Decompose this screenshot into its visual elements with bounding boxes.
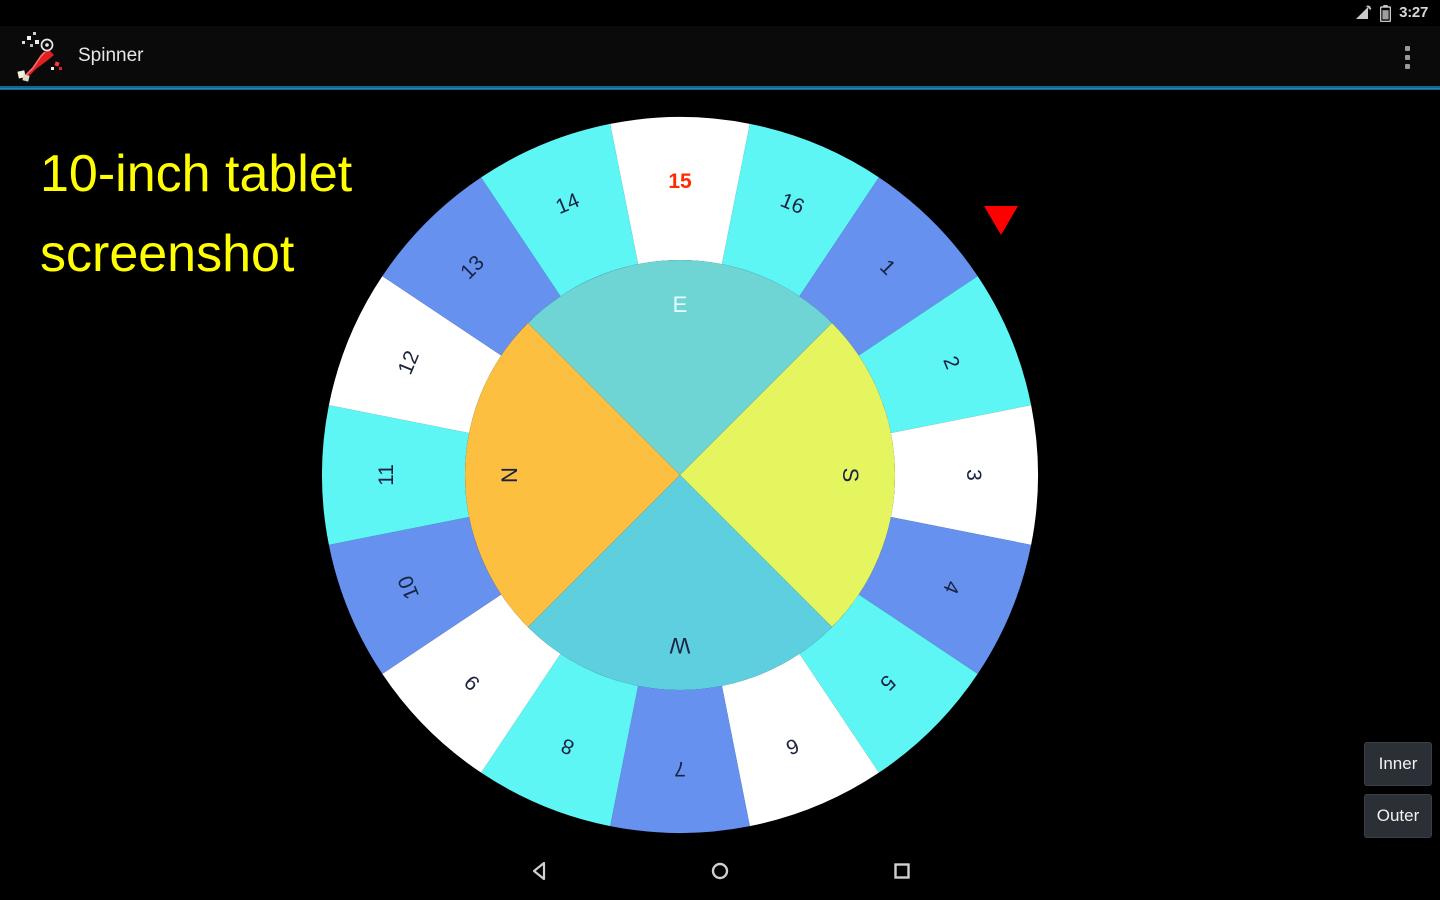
action-bar: Spinner (0, 26, 1440, 86)
back-icon[interactable] (495, 842, 585, 900)
overflow-dot-3 (1405, 64, 1410, 69)
inner-segment-label: N (497, 467, 522, 483)
side-button-group: Inner Outer (1364, 742, 1432, 838)
spinner-svg[interactable]: 15161234567891011121314 ESWN (320, 115, 1040, 835)
battery-icon (1380, 5, 1391, 22)
inner-segment-label: W (669, 633, 690, 658)
status-bar-right: 3:27 (1354, 0, 1428, 26)
outer-segment-label: 7 (674, 757, 686, 780)
inner-segment-label: S (838, 468, 863, 483)
action-bar-divider (0, 86, 1440, 90)
app-screen: 3:27 (0, 0, 1440, 900)
red-pointer-triangle (984, 206, 1018, 235)
status-bar-clock: 3:27 (1399, 0, 1428, 26)
outer-segment-label: 11 (375, 464, 398, 486)
outer-button[interactable]: Outer (1364, 794, 1432, 838)
overflow-dot-2 (1405, 55, 1410, 60)
home-icon[interactable] (675, 842, 765, 900)
navigation-bar (0, 842, 1440, 900)
overflow-dot-1 (1405, 46, 1410, 51)
inner-button[interactable]: Inner (1364, 742, 1432, 786)
overflow-menu-icon[interactable] (1390, 40, 1424, 74)
outer-segment-label: 15 (668, 170, 692, 193)
spinner-wheel[interactable]: 15161234567891011121314 ESWN (320, 115, 1040, 835)
outer-segment-label: 3 (962, 469, 985, 481)
spinner-app-icon (14, 29, 68, 83)
app-title: Spinner (78, 45, 144, 67)
inner-wheel[interactable] (465, 260, 895, 690)
inner-segment-label: E (673, 292, 688, 317)
wifi-signal-icon (1354, 5, 1372, 21)
status-bar: 3:27 (0, 0, 1440, 26)
recents-icon[interactable] (857, 842, 947, 900)
